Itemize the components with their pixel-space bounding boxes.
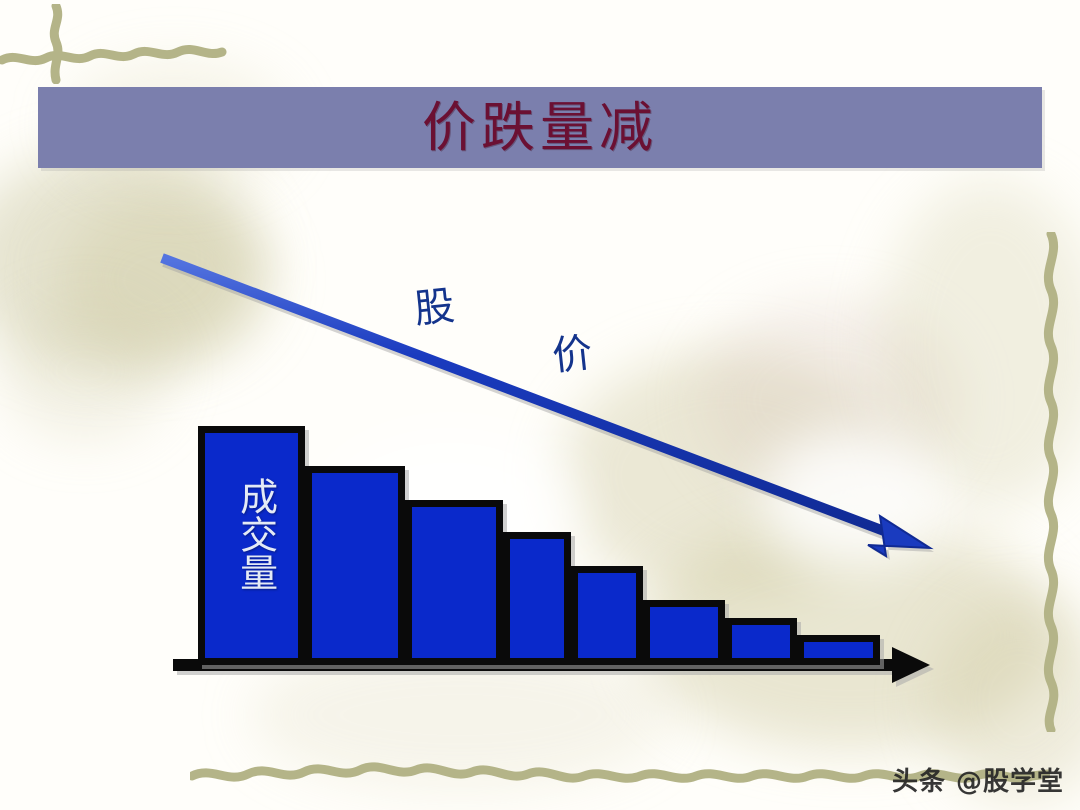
slide-canvas: 价跌量减 成交 (0, 0, 1080, 810)
bar-7 (725, 618, 797, 665)
watermark-text: 头条 @股学堂 (892, 761, 1064, 798)
bar-3 (405, 500, 503, 665)
bar-1 (198, 426, 305, 665)
bar-6 (643, 600, 725, 665)
bar-5 (571, 566, 643, 665)
bar-2 (305, 466, 405, 665)
bar-8 (797, 635, 880, 665)
bar-4 (503, 532, 571, 665)
chart-graphics (0, 0, 1080, 810)
